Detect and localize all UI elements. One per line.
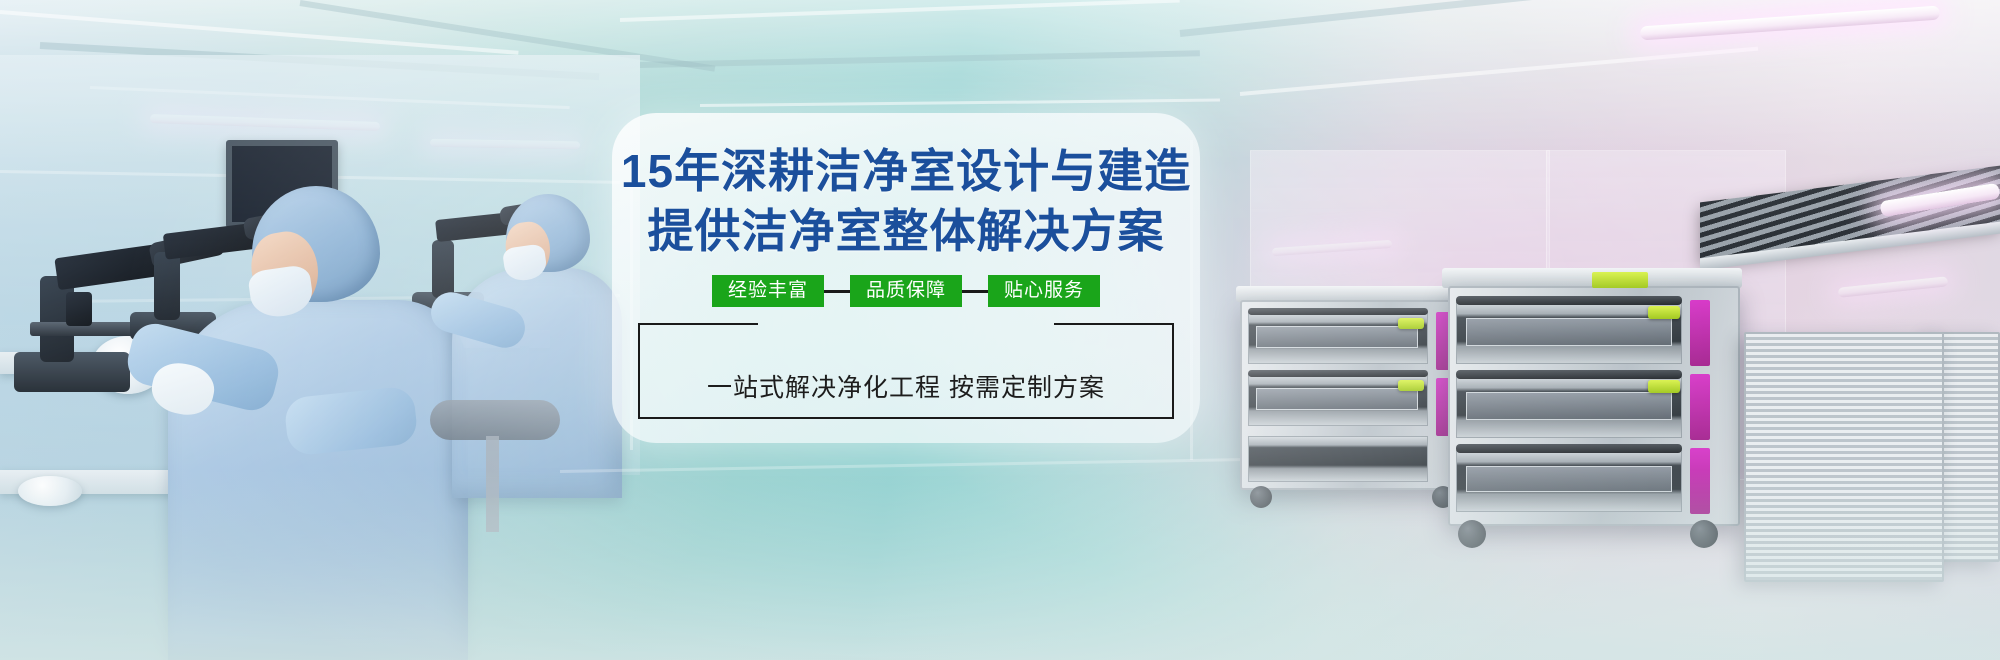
banner-content: 15年深耕洁净室设计与建造 提供洁净室整体解决方案 经验丰富 品质保障 贴心服务… xyxy=(612,113,1200,443)
page-title: 15年深耕洁净室设计与建造 提供洁净室整体解决方案 xyxy=(612,113,1200,261)
hero-banner: 15年深耕洁净室设计与建造 提供洁净室整体解决方案 经验丰富 品质保障 贴心服务… xyxy=(0,0,2000,660)
tagline-text: 一站式解决净化工程 按需定制方案 xyxy=(640,355,1172,417)
feature-badge-group: 经验丰富 品质保障 贴心服务 xyxy=(612,275,1200,307)
frame-top-left-segment xyxy=(638,323,758,325)
feature-badge-2: 贴心服务 xyxy=(988,275,1100,307)
feature-badge-1: 品质保障 xyxy=(850,275,962,307)
headline-line-1: 15年深耕洁净室设计与建造 xyxy=(621,145,1191,197)
tagline-frame: 一站式解决净化工程 按需定制方案 xyxy=(638,325,1174,419)
badge-connector-icon xyxy=(962,290,988,293)
badge-connector-icon xyxy=(824,290,850,293)
headline-line-2: 提供洁净室整体解决方案 xyxy=(612,201,1200,261)
feature-badge-0: 经验丰富 xyxy=(712,275,824,307)
frame-top-right-segment xyxy=(1054,323,1174,325)
